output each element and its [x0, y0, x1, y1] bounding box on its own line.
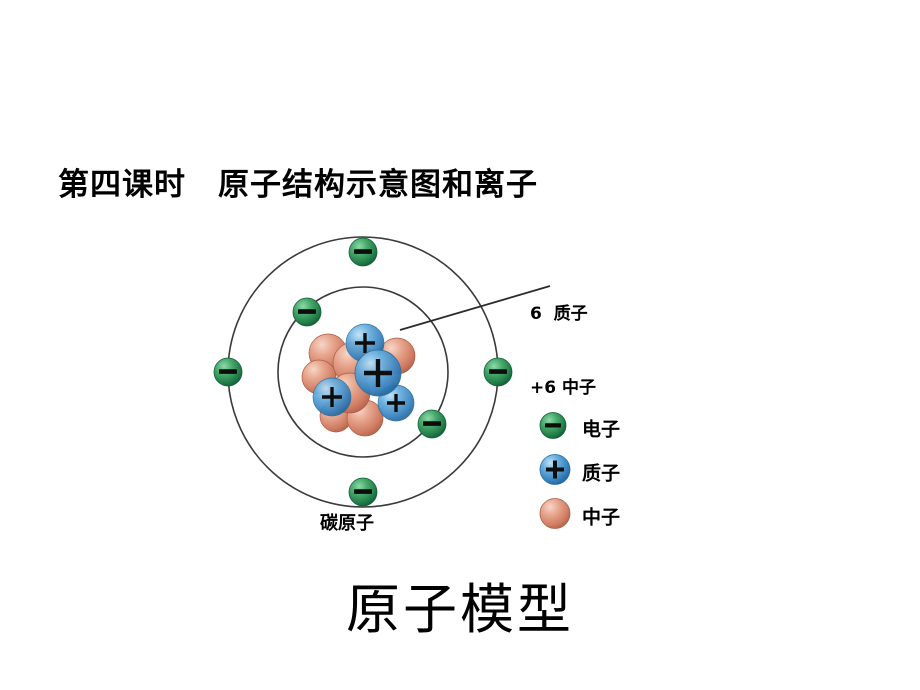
legend-item-proton: 质子: [538, 450, 668, 494]
proton-particle: [313, 378, 351, 416]
minus-icon: [545, 423, 561, 427]
minus-icon: [298, 309, 316, 314]
legend-label-neutron: 中子: [582, 503, 620, 530]
minus-icon: [354, 249, 372, 254]
legend-label-proton: 质子: [582, 459, 620, 486]
nucleus-annotation-line2: +6 中子: [530, 376, 596, 401]
particle-legend: 电子: [538, 406, 668, 538]
nucleus-leader-line: [400, 286, 550, 330]
electron-particle-outer-left: [214, 358, 242, 386]
carbon-atom-label: 碳原子: [320, 509, 374, 535]
bottom-caption: 原子模型: [0, 565, 920, 644]
electron-particle-inner-1: [293, 298, 321, 326]
legend-label-electron: 电子: [582, 415, 620, 442]
electron-particle-outer-bottom: [349, 478, 377, 506]
slide-canvas: 第四课时 原子结构示意图和离子: [0, 0, 920, 690]
electron-particle-outer-top: [349, 238, 377, 266]
electron-sphere-icon: [538, 411, 568, 446]
minus-icon: [423, 421, 441, 426]
neutron-sphere-icon: [538, 497, 572, 536]
legend-item-neutron: 中子: [538, 494, 668, 538]
nucleus-annotation-line1: 6 质子: [530, 302, 596, 327]
electron-particle-inner-2: [418, 410, 446, 438]
minus-icon: [354, 489, 372, 494]
electron-particle-outer-right: [484, 358, 512, 386]
proton-particle: [355, 350, 401, 396]
minus-icon: [489, 369, 507, 374]
proton-sphere-icon: [538, 453, 572, 492]
minus-icon: [219, 369, 237, 374]
legend-item-electron: 电子: [538, 406, 668, 450]
page-title: 第四课时 原子结构示意图和离子: [58, 167, 538, 204]
